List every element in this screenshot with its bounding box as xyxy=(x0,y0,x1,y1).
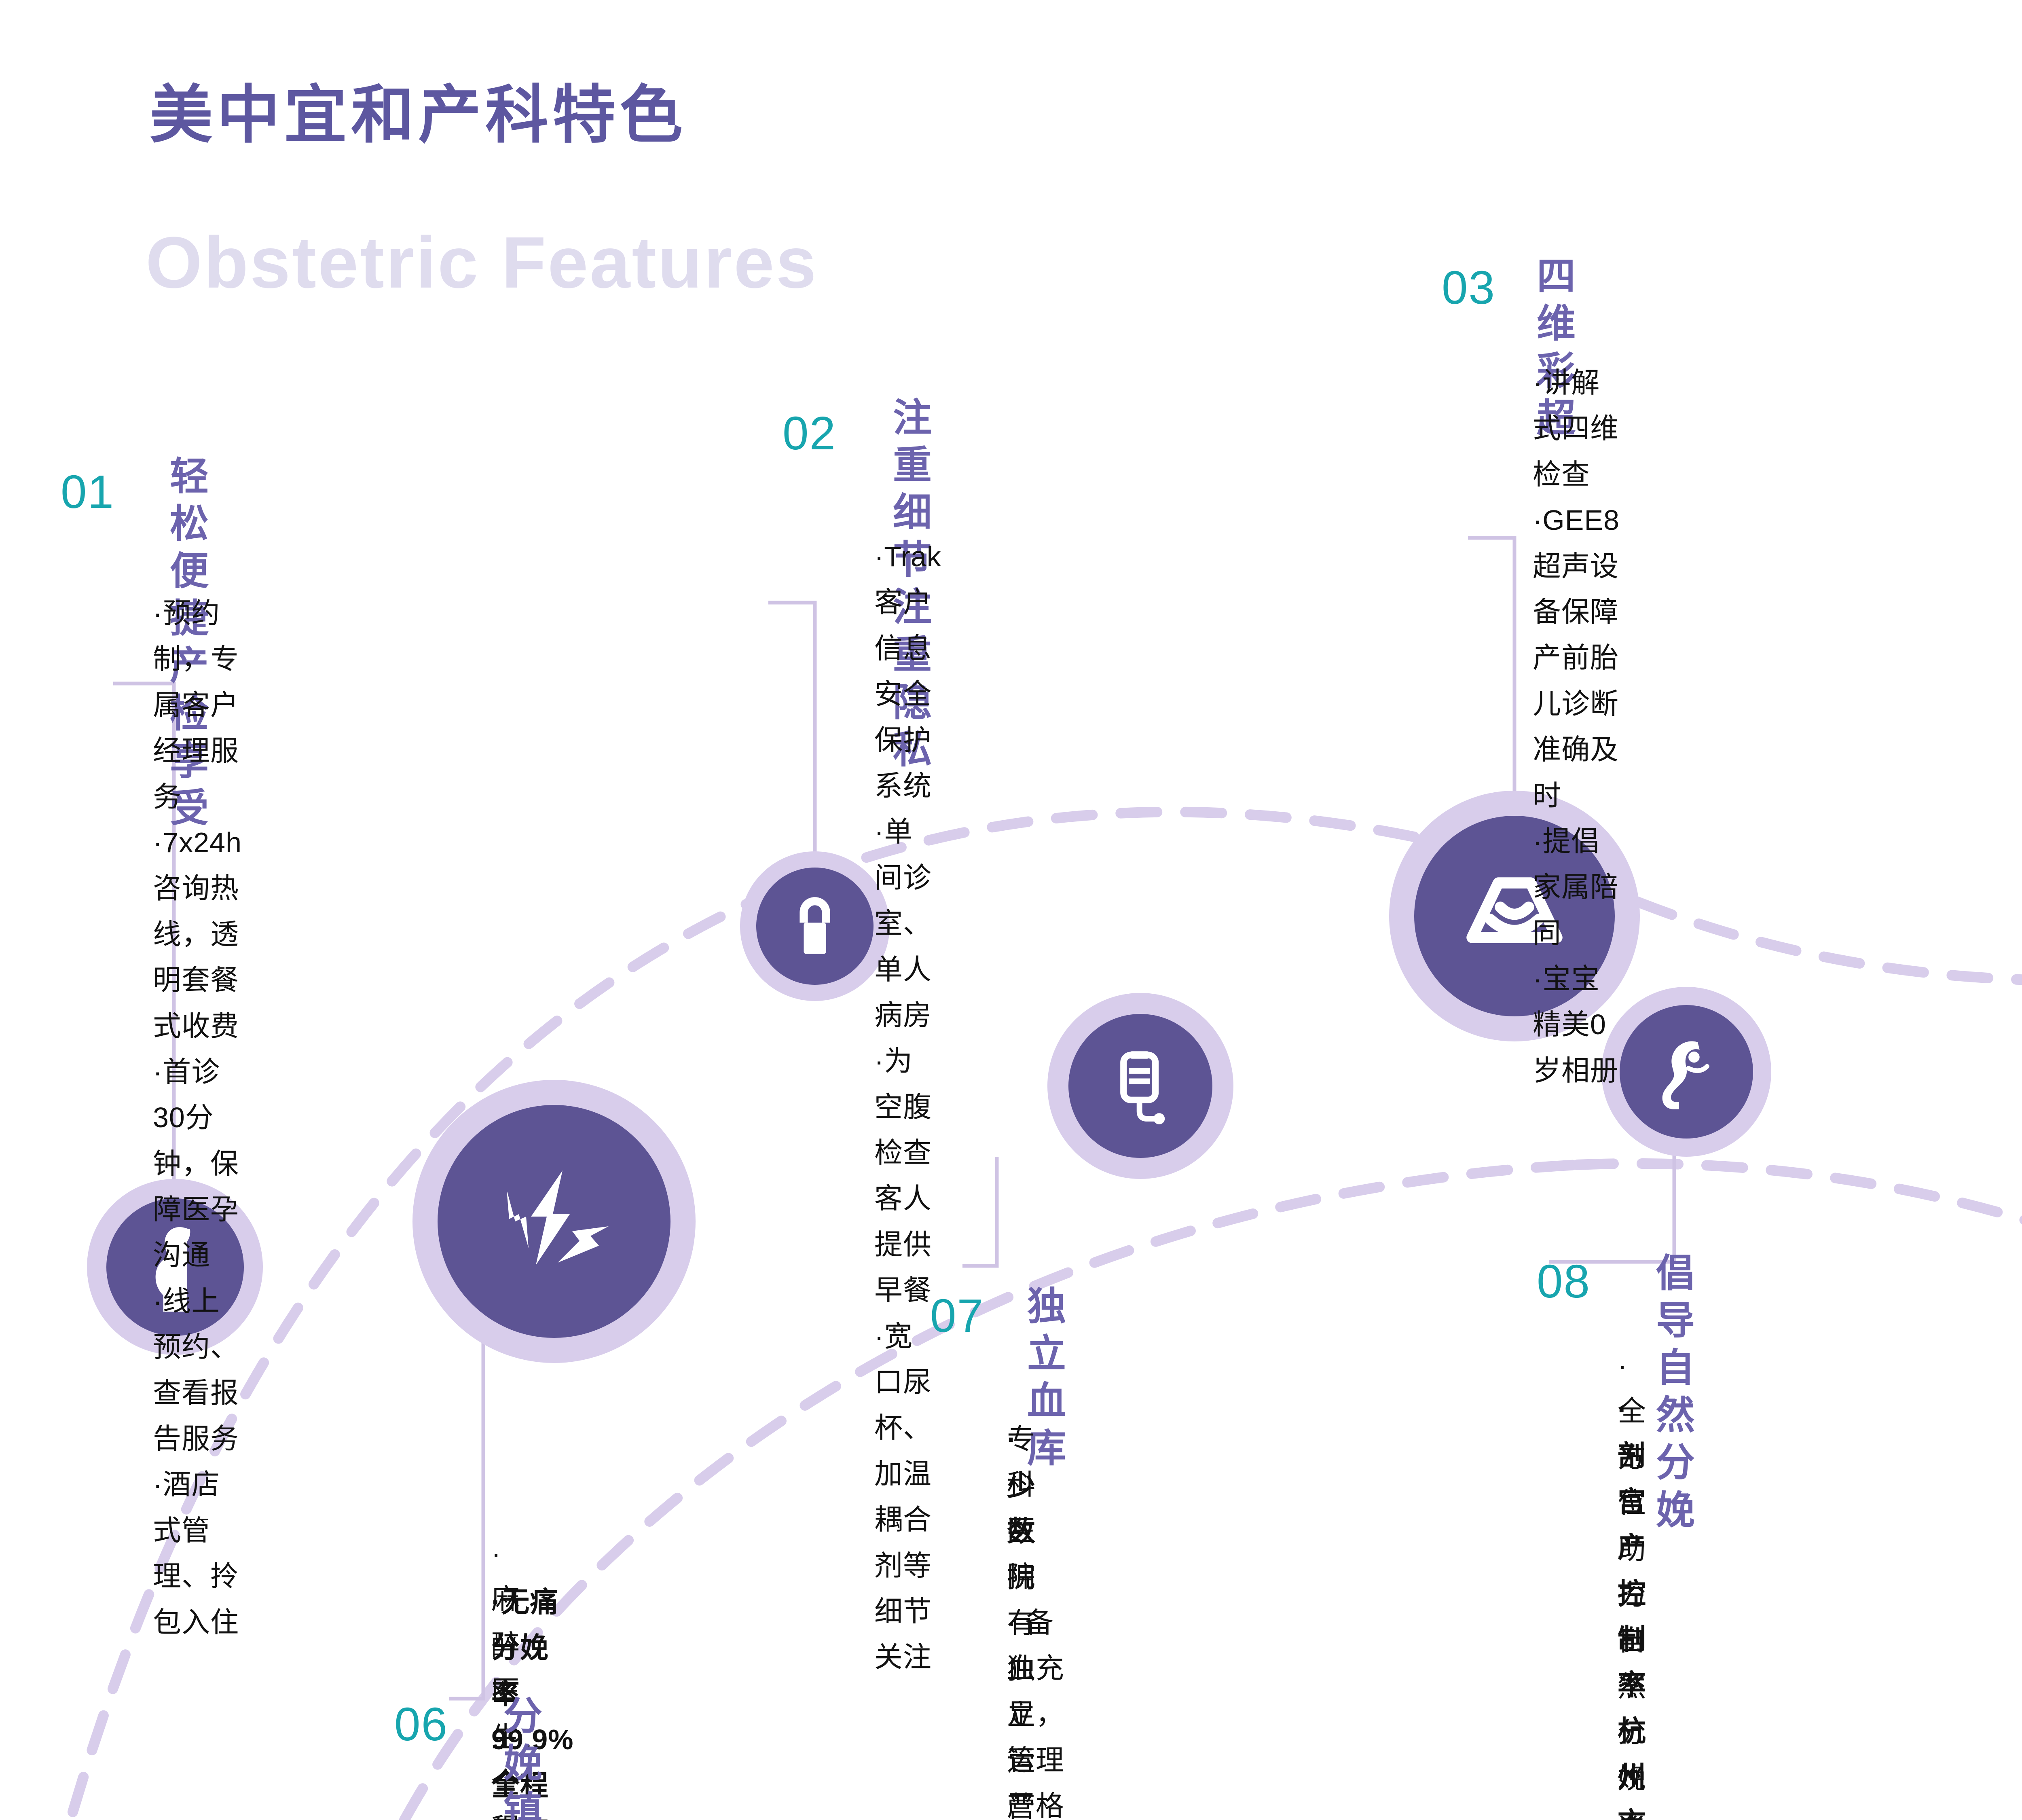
item-number-07: 07 xyxy=(930,1292,984,1339)
blood-bag-icon xyxy=(1108,1048,1173,1124)
infographic-canvas: 美中宜和产科特色 Obstetric Features amcare 美中宜和医… xyxy=(0,0,2022,1820)
lightning-bolts-icon xyxy=(487,1161,621,1282)
fetus-icon xyxy=(1651,1035,1722,1109)
item-title-06: 分娩镇痛 xyxy=(503,1693,543,1820)
item-bullets-01: ·预约制，专属客户经理服务 ·7x24h咨询热线，透明套餐式收费 ·首诊30分钟… xyxy=(153,590,242,1645)
lock-icon xyxy=(789,893,841,960)
item-number-06: 06 xyxy=(394,1701,448,1748)
item-bullets-03: ·讲解式四维检查 ·GEE8超声设备保障产前胎儿诊断 准确及时 ·提倡家属陪同 … xyxy=(1533,360,1620,1094)
item-number-03: 03 xyxy=(1442,264,1495,311)
item-number-02: 02 xyxy=(783,410,836,457)
item-bullets-07-rest: 专 科 医 院 · 备血充足，管理严格 · 为产后出血建立坚固防线 xyxy=(1007,1416,1064,1820)
item-number-01: 01 xyxy=(61,468,114,515)
item-bullets-02: ·Trak客户信息安全保护系统 ·单间诊室、单人病房 ·为空腹检查客人提供早餐 … xyxy=(874,534,941,1680)
item-number-08: 08 xyxy=(1537,1258,1591,1305)
page-title-cn: 美中宜和产科特色 xyxy=(150,81,687,150)
item-bullets-08-bold: ·剖宫产控制率杭州市前十 ·侧切率低于国家水平 xyxy=(1618,1387,1646,1820)
item-title-08: 倡导自然分娩 xyxy=(1656,1250,1696,1534)
page-title-en: Obstetric Features xyxy=(146,226,818,299)
